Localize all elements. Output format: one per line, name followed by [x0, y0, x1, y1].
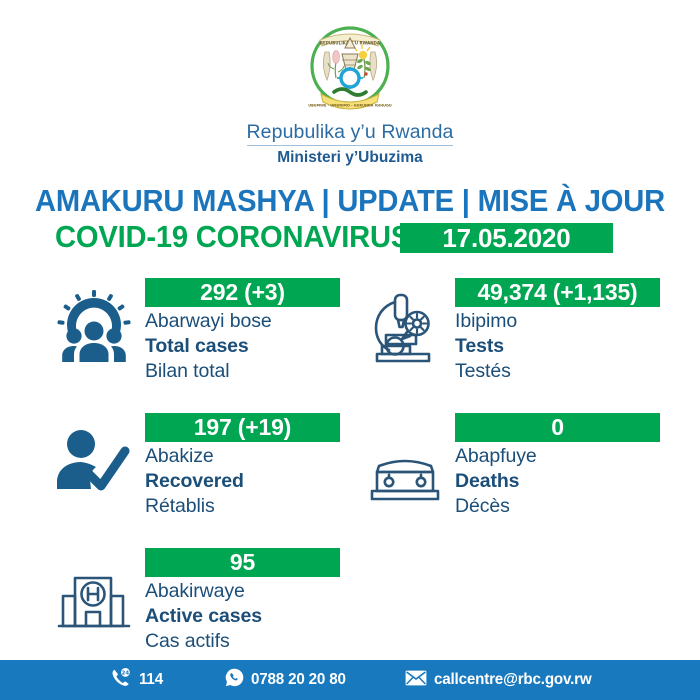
label-french: Testés: [455, 359, 660, 384]
email-address: callcentre@rbc.gov.rw: [434, 671, 592, 689]
ministry-heading: Repubulika y’u Rwanda Ministeri y’Ubuzim…: [0, 120, 700, 168]
heading-divider: [247, 145, 453, 146]
stat-body: 197 (+19) Abakize Recovered Rétablis: [145, 413, 340, 519]
stat-body: 49,374 (+1,135) Ibipimo Tests Testés: [455, 278, 660, 384]
stat-body: 0 Abapfuye Deaths Décès: [455, 413, 660, 519]
contact-hotline[interactable]: 24 114: [110, 660, 164, 700]
virus-people-icon: [55, 290, 133, 371]
stat-value: 95: [145, 548, 340, 577]
label-english: Recovered: [145, 469, 340, 494]
stat-value: 49,374 (+1,135): [455, 278, 660, 307]
coffin-icon: [365, 453, 445, 510]
country-name: Repubulika y’u Rwanda: [0, 120, 700, 144]
envelope-icon: [405, 670, 427, 691]
covid-title: COVID-19 CORONAVIRUS: [55, 220, 410, 254]
hospital-icon: [55, 568, 133, 639]
covid-title-row: COVID-19 CORONAVIRUS 17.05.2020: [55, 222, 645, 255]
label-english: Tests: [455, 334, 660, 359]
contact-email[interactable]: callcentre@rbc.gov.rw: [405, 660, 600, 700]
stat-labels: Abakize Recovered Rétablis: [145, 444, 340, 519]
stat-labels: Abarwayi bose Total cases Bilan total: [145, 309, 340, 384]
stat-value: 292 (+3): [145, 278, 340, 307]
label-kinyarwanda: Abakize: [145, 444, 340, 469]
stat-labels: Abakirwaye Active cases Cas actifs: [145, 579, 340, 654]
rwanda-coat-of-arms-icon: REPUBULIKA Y'U RWANDA: [304, 14, 396, 123]
label-kinyarwanda: Abakirwaye: [145, 579, 340, 604]
covid-update-infographic: REPUBULIKA Y'U RWANDA: [0, 0, 700, 700]
update-title: AMAKURU MASHYA | UPDATE | MISE À JOUR: [21, 184, 679, 218]
contact-bar: 24 114 0788 20 20 80 call: [0, 660, 700, 700]
svg-text:24: 24: [122, 670, 130, 676]
label-french: Rétablis: [145, 494, 340, 519]
phone-24h-icon: 24: [110, 667, 132, 694]
stat-body: 292 (+3) Abarwayi bose Total cases Bilan…: [145, 278, 340, 384]
emblem-container: REPUBULIKA Y'U RWANDA: [0, 14, 700, 123]
stat-labels: Abapfuye Deaths Décès: [455, 444, 660, 519]
stat-body: 95 Abakirwaye Active cases Cas actifs: [145, 548, 340, 654]
label-kinyarwanda: Ibipimo: [455, 309, 660, 334]
label-french: Bilan total: [145, 359, 340, 384]
whatsapp-number: 0788 20 20 80: [251, 671, 346, 689]
person-check-icon: [55, 425, 133, 500]
stat-value: 197 (+19): [145, 413, 340, 442]
label-english: Total cases: [145, 334, 340, 359]
ministry-name: Ministeri y’Ubuzima: [0, 147, 700, 168]
stat-labels: Ibipimo Tests Testés: [455, 309, 660, 384]
hotline-number: 114: [139, 671, 163, 689]
whatsapp-icon: [225, 668, 244, 692]
label-english: Active cases: [145, 604, 340, 629]
label-french: Cas actifs: [145, 629, 340, 654]
microscope-icon: [365, 290, 445, 373]
label-french: Décès: [455, 494, 660, 519]
svg-text:UBUMWE - UMURIMO - GUKUNDA IGI: UBUMWE - UMURIMO - GUKUNDA IGIHUGU: [308, 104, 392, 108]
label-kinyarwanda: Abarwayi bose: [145, 309, 340, 334]
label-english: Deaths: [455, 469, 660, 494]
date-badge: 17.05.2020: [400, 223, 613, 253]
stat-value: 0: [455, 413, 660, 442]
label-kinyarwanda: Abapfuye: [455, 444, 660, 469]
contact-whatsapp[interactable]: 0788 20 20 80: [225, 660, 351, 700]
